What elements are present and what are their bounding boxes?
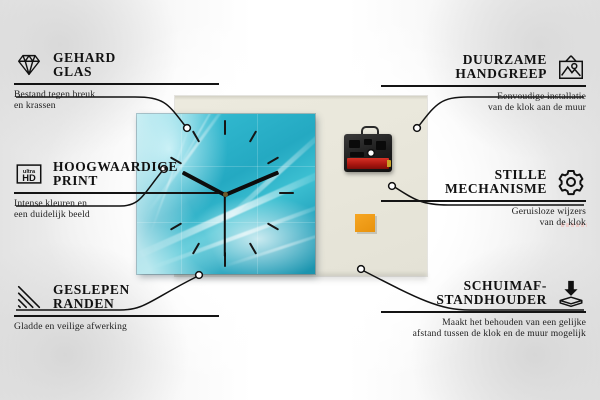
feature-hoogwaardige-print: ultra HD HOOGWAARDIGE PRINT Intense kleu… — [14, 159, 219, 220]
feature-title-line2: HANDGREEP — [455, 67, 547, 82]
feature-title: GEHARD GLAS — [53, 51, 116, 80]
feature-title-line1: DUURZAME — [455, 53, 547, 68]
foam-spacer-icon — [556, 278, 586, 308]
feature-desc-line1: Intense kleuren en — [14, 198, 219, 209]
movement-slot — [364, 139, 372, 145]
feature-divider — [14, 83, 219, 85]
feature-title: GESLEPEN RANDEN — [53, 283, 130, 312]
feature-header: GEHARD GLAS — [14, 50, 219, 80]
feature-title-line1: HOOGWAARDIGE — [53, 160, 178, 175]
feature-title-line2: GLAS — [53, 65, 116, 80]
hour-marker-2 — [267, 156, 279, 164]
feather-streak — [220, 226, 315, 269]
clock-second-hand — [224, 195, 226, 257]
feature-title-line1: GEHARD — [53, 51, 116, 66]
feature-description: Gladde en veilige afwerking — [14, 321, 219, 332]
feature-title-line1: SCHUIMAF- — [436, 279, 547, 294]
feature-header: SCHUIMAF- STANDHOUDER — [381, 278, 586, 308]
feature-desc-line2: een duidelijk beeld — [14, 209, 219, 220]
feature-desc-line2: en krassen — [14, 100, 219, 111]
feature-description: Geruisloze wijzers van de klok — [381, 206, 586, 229]
feature-title: STILLE MECHANISME — [445, 168, 547, 197]
feature-schuimafstandhouder: SCHUIMAF- STANDHOUDER Maakt het behouden… — [381, 278, 586, 339]
feature-desc-line1: Gladde en veilige afwerking — [14, 321, 219, 332]
feature-title-line2: RANDEN — [53, 297, 130, 312]
battery-positive-terminal — [387, 160, 391, 167]
hour-marker-3 — [279, 192, 294, 194]
ultra-hd-icon: ultra HD — [14, 159, 44, 189]
feature-title: SCHUIMAF- STANDHOUDER — [436, 279, 547, 308]
movement-slot — [376, 141, 386, 150]
feature-desc-line1: Bestand tegen breuk — [14, 89, 219, 100]
clock-hand-pivot — [223, 192, 228, 197]
feature-divider — [381, 200, 586, 202]
diamond-icon — [14, 50, 44, 80]
feature-title-line2: STANDHOUDER — [436, 293, 547, 308]
feature-divider — [381, 311, 586, 313]
feature-header: GESLEPEN RANDEN — [14, 282, 219, 312]
picture-frame-icon — [556, 52, 586, 82]
feature-duurzame-handgreep: DUURZAME HANDGREEP Eenvoudige installati… — [381, 52, 586, 113]
hour-marker-1 — [249, 130, 257, 142]
beveled-edges-icon — [14, 282, 44, 312]
feature-header: DUURZAME HANDGREEP — [381, 52, 586, 82]
feature-desc-line1: Eenvoudige installatie — [381, 91, 586, 102]
movement-slot — [350, 152, 364, 157]
feature-description: Eenvoudige installatie van de klok aan d… — [381, 91, 586, 114]
ultra-hd-icon-bottom-text: HD — [22, 173, 36, 183]
feature-title-line2: PRINT — [53, 174, 178, 189]
gear-icon — [556, 167, 586, 197]
feature-title: DUURZAME HANDGREEP — [455, 53, 547, 82]
feature-gehard-glas: GEHARD GLAS Bestand tegen breuk en krass… — [14, 50, 219, 111]
feature-title-line1: GESLEPEN — [53, 283, 130, 298]
infographic-canvas: GEHARD GLAS Bestand tegen breuk en krass… — [0, 0, 600, 400]
feature-description: Maakt het behouden van een gelijke afsta… — [381, 317, 586, 340]
feature-description: Intense kleuren en een duidelijk beeld — [14, 198, 219, 221]
feature-geslepen-randen: GESLEPEN RANDEN Gladde en veilige afwerk… — [14, 282, 219, 332]
feature-title-line2: MECHANISME — [445, 182, 547, 197]
feature-desc-line1: Maakt het behouden van een gelijke — [381, 317, 586, 328]
feature-desc-line1: Geruisloze wijzers — [381, 206, 586, 217]
feature-divider — [381, 85, 586, 87]
hour-marker-5 — [249, 242, 257, 254]
hour-marker-12 — [224, 120, 226, 135]
feature-divider — [14, 315, 219, 317]
feature-title-line1: STILLE — [445, 168, 547, 183]
feature-header: ultra HD HOOGWAARDIGE PRINT — [14, 159, 219, 189]
feature-stille-mechanisme: STILLE MECHANISME Geruisloze wijzers van… — [381, 167, 586, 228]
feature-description: Bestand tegen breuk en krassen — [14, 89, 219, 112]
feature-desc-line2: afstand tussen de klok en de muur mogeli… — [381, 328, 586, 339]
movement-slot — [349, 140, 360, 148]
feature-title: HOOGWAARDIGE PRINT — [53, 160, 178, 189]
feature-desc-line2: van de klok — [381, 217, 586, 228]
feature-divider — [14, 192, 219, 194]
feature-desc-line2: van de klok aan de muur — [381, 102, 586, 113]
foam-spacer-pad — [355, 214, 375, 232]
feature-header: STILLE MECHANISME — [381, 167, 586, 197]
